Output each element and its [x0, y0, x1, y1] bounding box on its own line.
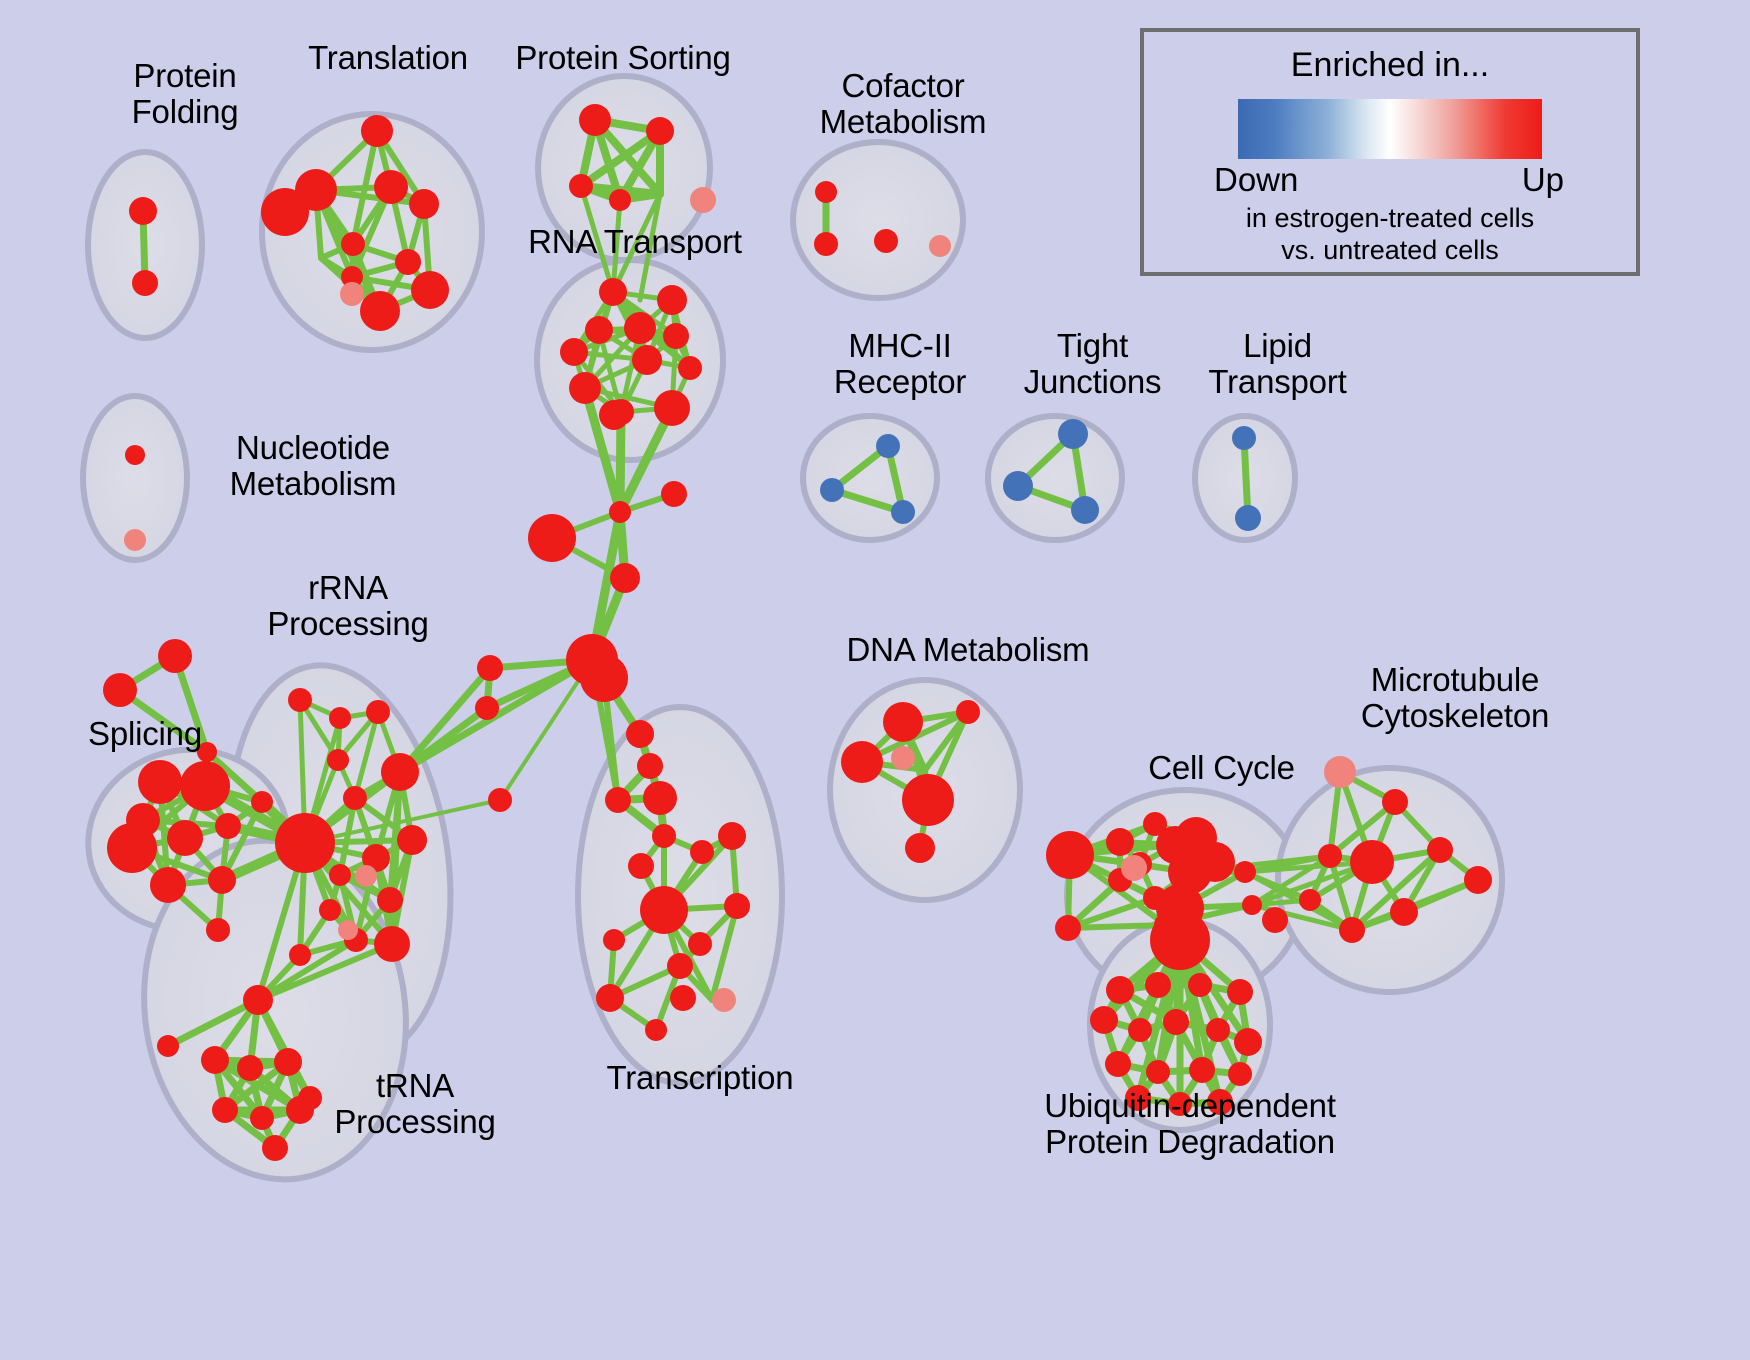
node	[1105, 1051, 1131, 1077]
hull-mhcii	[803, 416, 937, 540]
node	[1318, 844, 1342, 868]
node	[1390, 898, 1418, 926]
node-mid	[1121, 855, 1147, 881]
node	[652, 824, 676, 848]
node	[206, 918, 230, 942]
legend-low-label: Down	[1214, 161, 1298, 199]
cluster-label-cofactor-metabolism: Cofactor Metabolism	[778, 68, 1028, 139]
node	[1046, 831, 1094, 879]
node-down	[1058, 419, 1088, 449]
node	[261, 188, 309, 236]
node-down	[1235, 505, 1261, 531]
node	[1464, 866, 1492, 894]
node	[599, 278, 627, 306]
node	[841, 741, 883, 783]
node	[1106, 828, 1134, 856]
node	[167, 820, 203, 856]
node	[1188, 973, 1212, 997]
node	[1234, 1028, 1262, 1056]
node	[640, 886, 688, 934]
node	[637, 753, 663, 779]
node	[902, 774, 954, 826]
node	[580, 654, 628, 702]
node	[477, 655, 503, 681]
node	[397, 825, 427, 855]
legend-caption-line1: in estrogen-treated cells	[1144, 203, 1636, 235]
node	[1128, 1018, 1152, 1042]
node	[599, 400, 629, 430]
node-mid	[338, 920, 358, 940]
cluster-label-microtubule-cytoskeleton: Microtubule Cytoskeleton	[1300, 662, 1610, 733]
node	[718, 822, 746, 850]
node	[724, 893, 750, 919]
cluster-label-splicing: Splicing	[55, 716, 235, 752]
node	[374, 170, 408, 204]
node	[883, 702, 923, 742]
cluster-label-trna-processing: tRNA Processing	[300, 1068, 530, 1139]
node	[569, 372, 601, 404]
node	[874, 229, 898, 253]
cluster-label-tight-junctions: Tight Junctions	[985, 328, 1200, 399]
node	[657, 285, 687, 315]
cluster-label-transcription: Transcription	[565, 1060, 835, 1096]
node	[208, 866, 236, 894]
node-mid	[690, 187, 716, 213]
node	[624, 312, 656, 344]
cluster-label-lipid-transport: Lipid Transport	[1170, 328, 1385, 399]
node	[643, 781, 677, 815]
node-mid	[712, 988, 736, 1012]
node	[1055, 915, 1081, 941]
node	[251, 791, 273, 813]
node	[579, 104, 611, 136]
node	[678, 356, 702, 380]
node	[814, 232, 838, 256]
node	[262, 1135, 288, 1161]
node	[1163, 1009, 1189, 1035]
node	[1206, 1018, 1230, 1042]
node	[1106, 976, 1134, 1004]
legend-high-label: Up	[1522, 161, 1564, 199]
legend-endpoint-labels: Down Up	[1220, 161, 1560, 203]
node	[215, 813, 241, 839]
cluster-label-protein-sorting: Protein Sorting	[478, 40, 768, 76]
legend-caption-line2: vs. untreated cells	[1144, 235, 1636, 267]
node	[1090, 1006, 1118, 1034]
node	[1299, 889, 1321, 911]
node	[132, 270, 158, 296]
node	[646, 117, 674, 145]
node	[654, 390, 690, 426]
node	[243, 985, 273, 1015]
node	[341, 232, 365, 256]
node	[645, 1019, 667, 1041]
node	[329, 864, 351, 886]
node	[488, 788, 512, 812]
node	[409, 189, 439, 219]
node	[329, 707, 351, 729]
node	[603, 929, 625, 951]
node	[690, 840, 714, 864]
node	[585, 316, 613, 344]
node	[138, 760, 182, 804]
cluster-label-nucleotide-metabolism: Nucleotide Metabolism	[188, 430, 438, 501]
node	[411, 271, 449, 309]
node	[125, 445, 145, 465]
node	[1339, 917, 1365, 943]
node-down	[820, 478, 844, 502]
node	[661, 481, 687, 507]
network-figure: Protein Folding Translation Protein Sort…	[0, 0, 1750, 1360]
node	[250, 1106, 274, 1130]
node	[1189, 1057, 1215, 1083]
node	[107, 823, 157, 873]
node	[569, 174, 593, 198]
cluster-label-cell-cycle: Cell Cycle	[1104, 750, 1339, 786]
node	[528, 514, 576, 562]
node	[628, 853, 654, 879]
cluster-label-rna-transport: RNA Transport	[490, 224, 780, 260]
node	[1145, 972, 1171, 998]
node	[343, 786, 367, 810]
node	[274, 1048, 302, 1076]
node	[1150, 910, 1210, 970]
node-mid	[929, 235, 951, 257]
cluster-label-rrna-processing: rRNA Processing	[238, 570, 458, 641]
node	[395, 249, 421, 275]
legend-color-gradient-bar	[1238, 99, 1542, 159]
node	[605, 787, 631, 813]
cluster-label-mhc-ii-receptor: MHC-II Receptor	[790, 328, 1010, 399]
node	[1427, 837, 1453, 863]
node	[626, 720, 654, 748]
node	[381, 753, 419, 791]
node-down	[876, 434, 900, 458]
node	[956, 700, 980, 724]
node	[667, 953, 693, 979]
cluster-label-dna-metabolism: DNA Metabolism	[818, 632, 1118, 668]
node	[289, 944, 311, 966]
node	[158, 639, 192, 673]
node	[1262, 907, 1288, 933]
legend-title: Enriched in...	[1144, 46, 1636, 85]
node	[632, 345, 662, 375]
node	[327, 749, 349, 771]
node-mid	[355, 865, 377, 887]
node-mid	[891, 746, 915, 770]
node	[319, 899, 341, 921]
node	[180, 761, 230, 811]
hull-cofactor	[793, 142, 963, 298]
node	[1228, 1062, 1252, 1086]
node	[1242, 895, 1262, 915]
node	[475, 696, 499, 720]
node-down	[891, 500, 915, 524]
node	[275, 813, 335, 873]
node-mid	[124, 529, 146, 551]
node-down	[1071, 496, 1099, 524]
node	[103, 673, 137, 707]
node	[1234, 861, 1256, 883]
node	[1146, 1060, 1170, 1084]
node	[596, 984, 624, 1012]
node	[609, 189, 631, 211]
node	[1227, 979, 1253, 1005]
node	[366, 700, 390, 724]
node	[374, 926, 410, 962]
node	[212, 1097, 238, 1123]
node	[560, 338, 588, 366]
node-down	[1232, 426, 1256, 450]
node	[129, 197, 157, 225]
node	[360, 291, 400, 331]
node	[361, 115, 393, 147]
node	[670, 985, 696, 1011]
node	[237, 1055, 263, 1081]
node-down	[1003, 471, 1033, 501]
node	[815, 181, 837, 203]
node	[288, 688, 312, 712]
node	[201, 1046, 229, 1074]
node	[663, 323, 689, 349]
node	[1382, 789, 1408, 815]
node	[157, 1035, 179, 1057]
node	[377, 887, 403, 913]
node	[688, 932, 712, 956]
node	[1350, 840, 1394, 884]
node	[905, 833, 935, 863]
node	[610, 563, 640, 593]
cluster-label-ubiquitin-protein-degradation: Ubiquitin-dependent Protein Degradation	[985, 1088, 1395, 1159]
node	[609, 501, 631, 523]
legend-panel: Enriched in... Down Up in estrogen-treat…	[1140, 28, 1640, 276]
node-mid	[340, 282, 364, 306]
node	[150, 867, 186, 903]
